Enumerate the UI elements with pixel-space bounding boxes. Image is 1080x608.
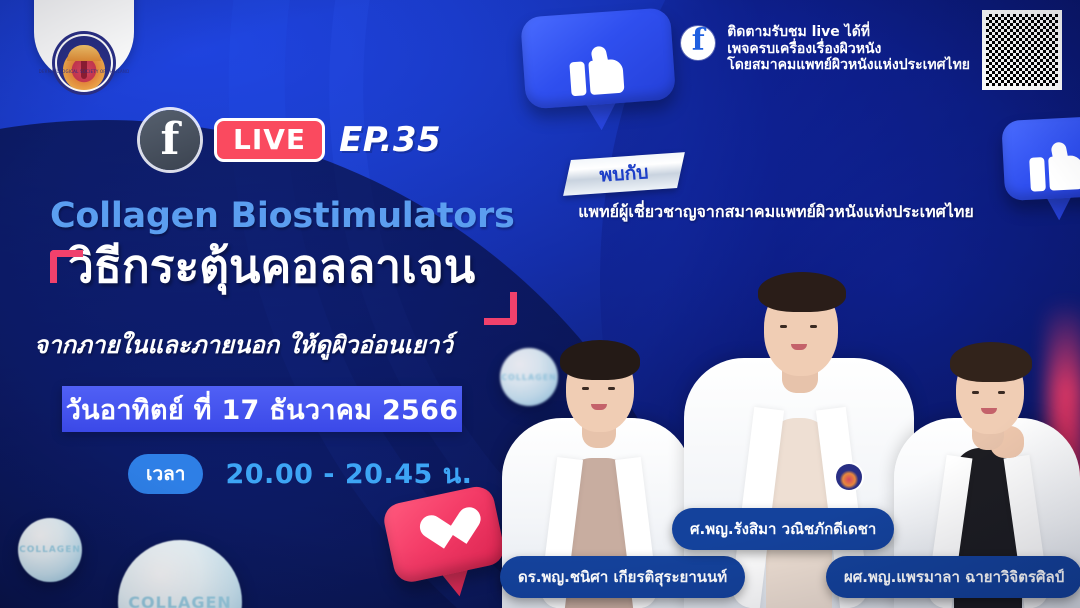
live-event-poster: COLLAGEN DERMATOLOGICAL SOCIETY OF THAIL… <box>0 0 1080 608</box>
vignette-overlay <box>0 0 1080 608</box>
